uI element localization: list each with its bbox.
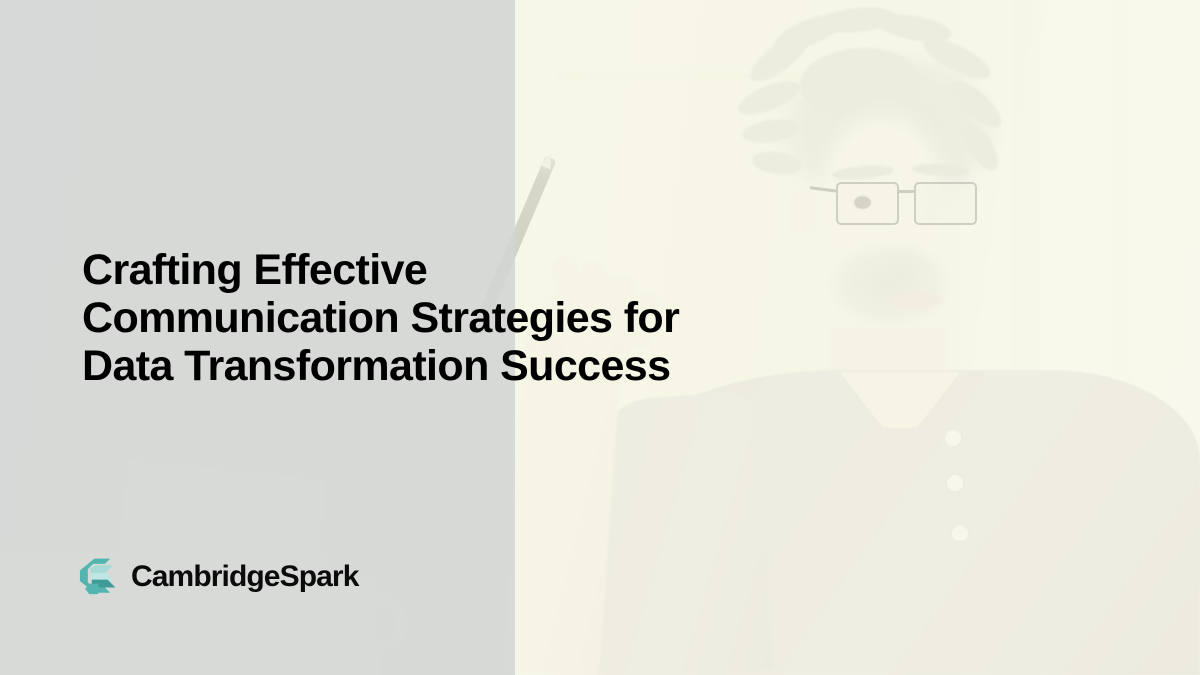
- brand-logo[interactable]: CambridgeSpark: [76, 556, 358, 598]
- banner-content: Crafting Effective Communication Strateg…: [0, 0, 1200, 675]
- cambridge-spark-chevron-mark: [76, 556, 118, 598]
- logo-wordmark: CambridgeSpark: [131, 562, 358, 592]
- banner-root: Crafting Effective Communication Strateg…: [0, 0, 1200, 675]
- page-title: Crafting Effective Communication Strateg…: [82, 246, 782, 390]
